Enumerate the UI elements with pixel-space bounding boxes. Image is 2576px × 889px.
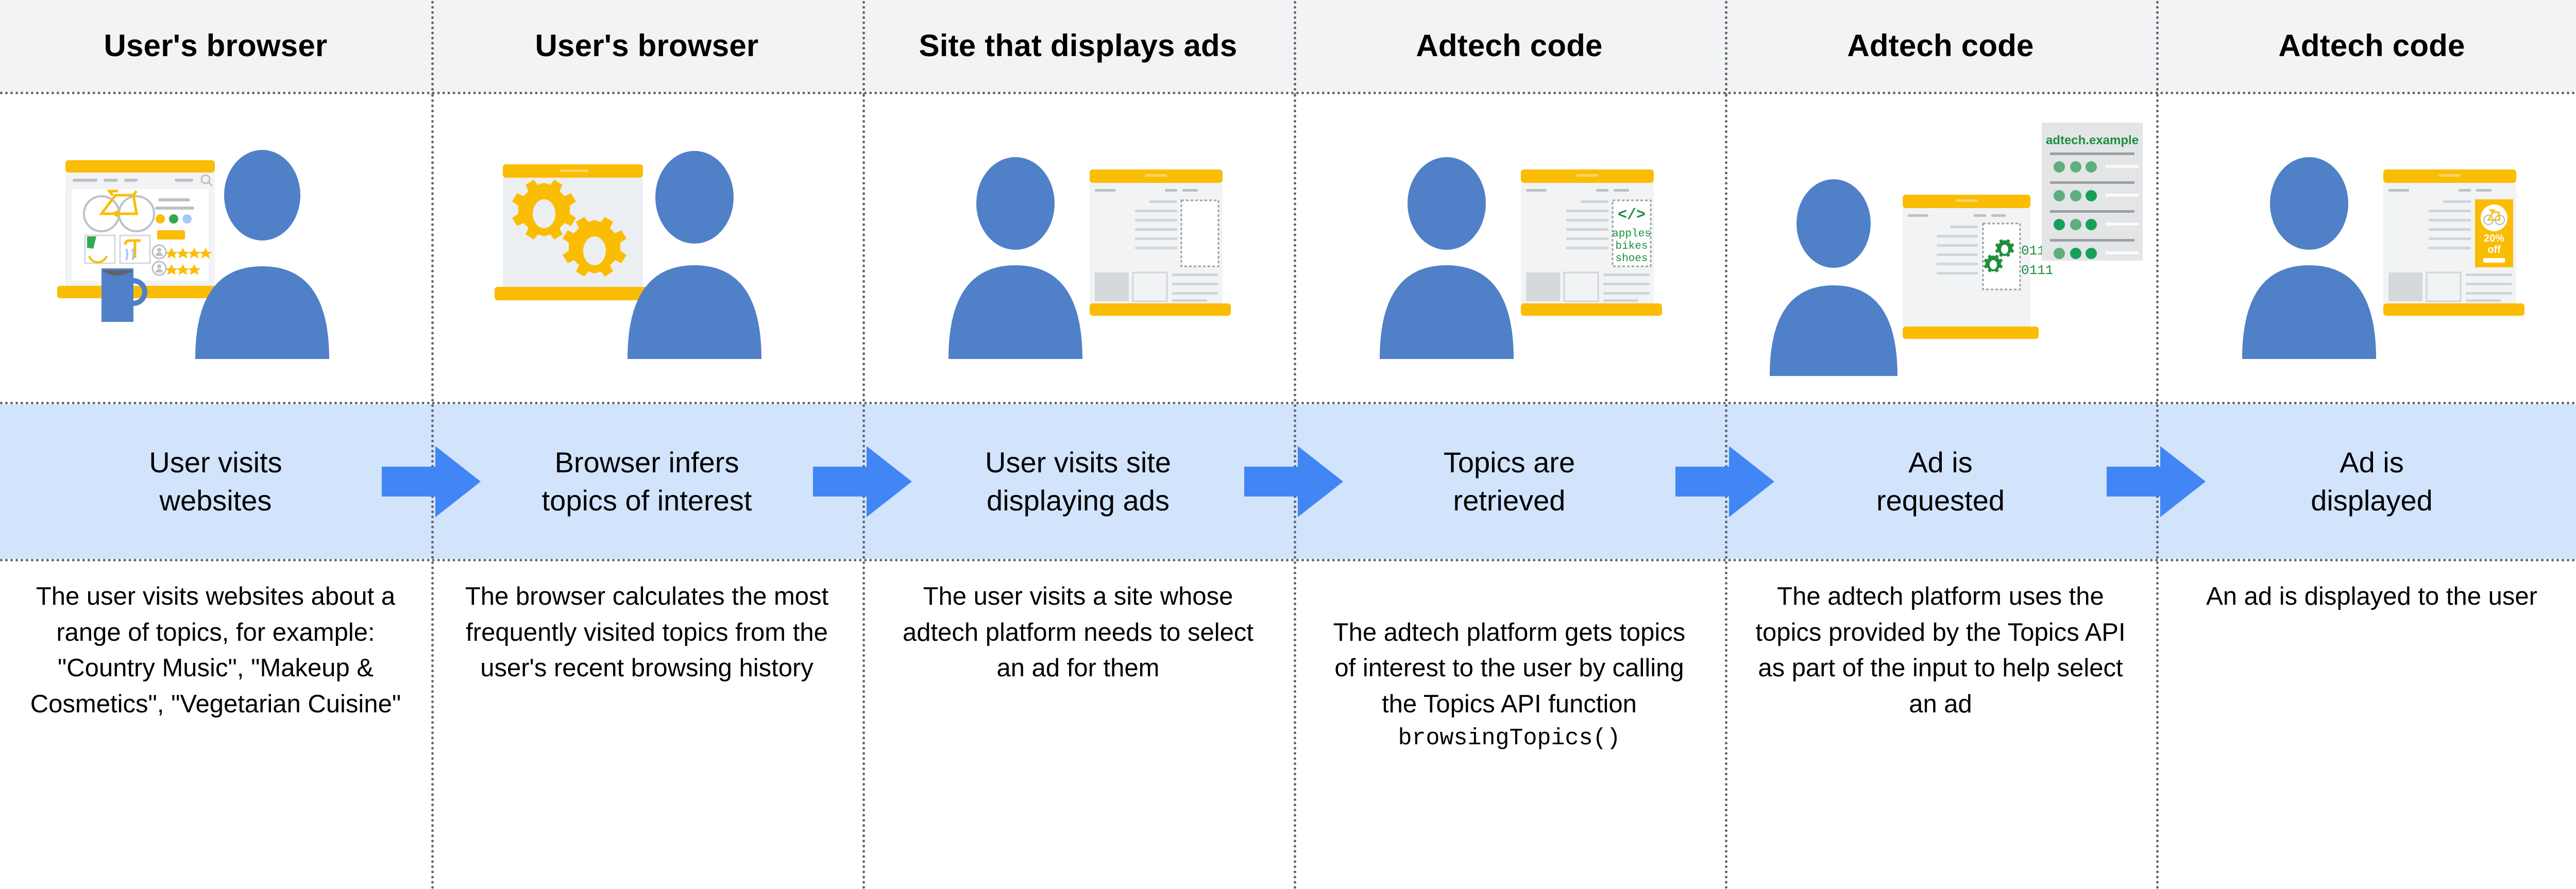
person-at-screen-gears-icon	[467, 138, 827, 359]
step-cell-5: Ad is requested	[1725, 404, 2156, 559]
header-cell-1: User's browser	[0, 0, 431, 92]
topic-word-shoes: shoes	[1615, 253, 1648, 265]
step-cell-4: Topics are retrieved	[1294, 404, 1725, 559]
step-label: Topics are retrieved	[1430, 443, 1588, 520]
description-cell-2: The browser calculates the most frequent…	[431, 561, 862, 889]
topic-word-apples: apples	[1612, 228, 1651, 240]
header-cell-2: User's browser	[431, 0, 862, 92]
column-header-label: User's browser	[535, 27, 759, 64]
column-header-label: Adtech code	[1847, 27, 2033, 64]
person-at-screen-ad-displayed-icon: 20% off	[2192, 138, 2552, 359]
header-cell-3: Site that displays ads	[862, 0, 1294, 92]
column-header-label: Adtech code	[1416, 27, 1602, 64]
description-text: The adtech platform gets topics of inter…	[1320, 579, 1698, 791]
topic-word-bikes: bikes	[1615, 241, 1648, 252]
step-cell-1: User visits websites	[0, 404, 431, 559]
person-at-screen-code-topics-icon: </> apples bikes shoes	[1329, 138, 1690, 359]
column-header-label: Adtech code	[2278, 27, 2465, 64]
step-label: Ad is displayed	[2297, 443, 2446, 520]
description-text: The adtech platform uses the topics prov…	[1752, 579, 2129, 722]
header-row: User's browser User's browser Site that …	[0, 0, 2576, 92]
person-at-screen-adtech-panel-icon: 0110 0111 adtech.example	[1745, 104, 2137, 392]
description-text: The user visits a site whose adtech plat…	[889, 579, 1267, 687]
description-cell-1: The user visits websites about a range o…	[0, 561, 431, 889]
person-at-screen-article-icon	[898, 138, 1259, 359]
description-cell-4: The adtech platform gets topics of inter…	[1294, 561, 1725, 889]
description-row: The user visits websites about a range o…	[0, 561, 2576, 889]
header-cell-4: Adtech code	[1294, 0, 1725, 92]
illustration-cell-5: 0110 0111 adtech.example	[1725, 94, 2156, 402]
code-tag-text: </>	[1617, 207, 1645, 224]
description-text: The browser calculates the most frequent…	[458, 579, 836, 687]
step-label: Browser infers topics of interest	[529, 443, 766, 520]
header-cell-5: Adtech code	[1725, 0, 2156, 92]
description-cell-5: The adtech platform uses the topics prov…	[1725, 561, 2156, 889]
description-text-plain: The adtech platform gets topics of inter…	[1333, 619, 1686, 718]
illustration-row: </> apples bikes shoes	[0, 94, 2576, 402]
illustration-cell-3	[862, 94, 1294, 402]
illustration-cell-1	[0, 94, 431, 402]
binary-line-2: 0111	[2021, 263, 2053, 278]
step-band-row: User visits websites Browser infers topi…	[0, 404, 2576, 559]
step-label: User visits site displaying ads	[972, 443, 1184, 520]
header-cell-6: Adtech code	[2156, 0, 2576, 92]
description-cell-3: The user visits a site whose adtech plat…	[862, 561, 1294, 889]
illustration-cell-4: </> apples bikes shoes	[1294, 94, 1725, 402]
description-code-token: browsingTopics()	[1320, 722, 1698, 755]
person-at-screen-shopping-bicycle-icon	[36, 138, 396, 359]
illustration-cell-2	[431, 94, 862, 402]
step-label: Ad is requested	[1863, 443, 2018, 520]
step-cell-6: Ad is displayed	[2156, 404, 2576, 559]
column-header-label: User's browser	[104, 27, 328, 64]
adtech-panel-title: adtech.example	[2045, 133, 2138, 147]
column-header-label: Site that displays ads	[919, 27, 1238, 64]
topics-api-flow-diagram: User's browser User's browser Site that …	[0, 0, 2576, 889]
description-text: An ad is displayed to the user	[2206, 579, 2537, 615]
description-cell-6: An ad is displayed to the user	[2156, 561, 2576, 889]
step-cell-2: Browser infers topics of interest	[431, 404, 862, 559]
ad-discount-line-2: off	[2487, 244, 2501, 255]
step-label: User visits websites	[135, 443, 295, 520]
ad-discount-line-1: 20%	[2483, 233, 2504, 244]
step-cell-3: User visits site displaying ads	[862, 404, 1294, 559]
description-text: The user visits websites about a range o…	[27, 579, 404, 722]
illustration-cell-6: 20% off	[2156, 94, 2576, 402]
